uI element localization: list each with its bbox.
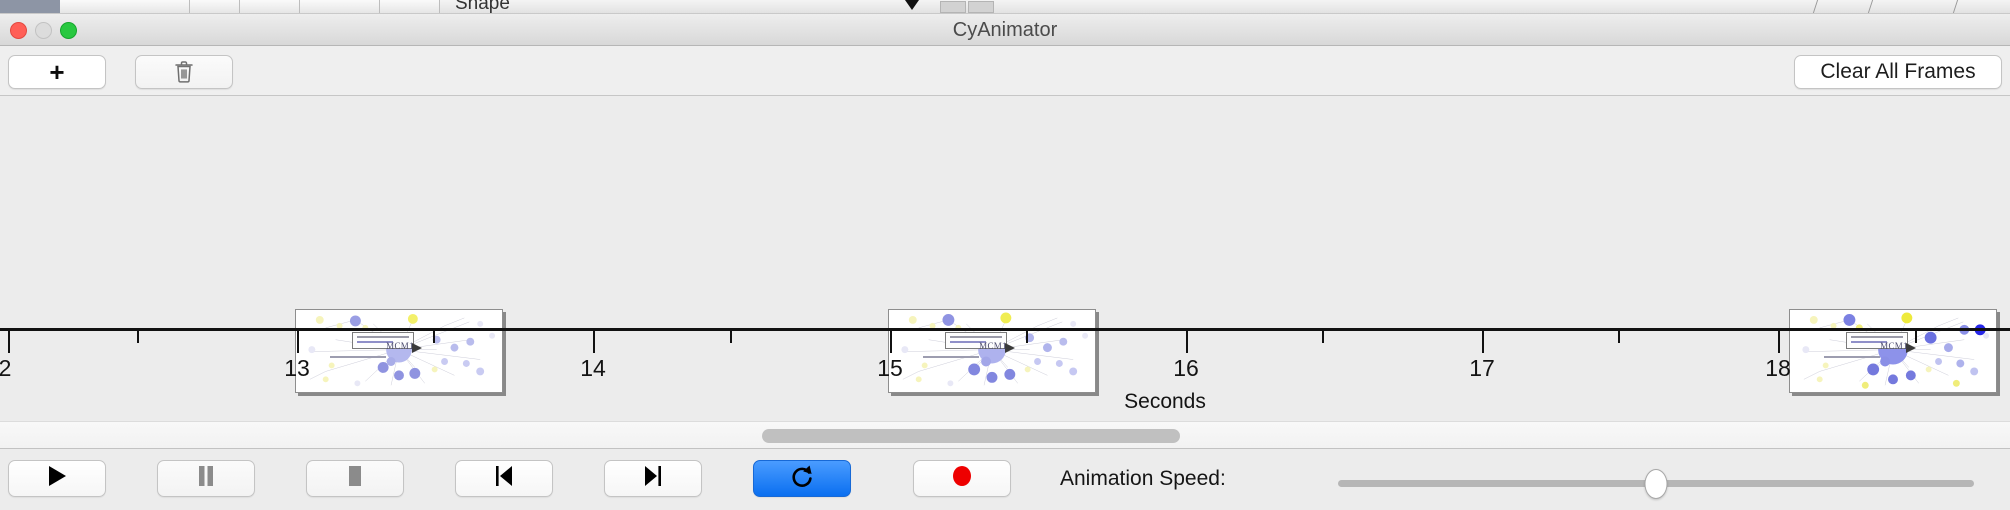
play-button[interactable] [8, 460, 106, 497]
background-window-label: Shape [455, 0, 510, 13]
timeline-panel[interactable]: MCM1 [0, 96, 2010, 421]
stop-icon [344, 464, 366, 493]
ruler-tick-minor [1026, 331, 1028, 343]
background-window-strip: Shape [0, 0, 2010, 13]
animation-speed-label: Animation Speed: [1060, 467, 1226, 491]
timeline-ruler[interactable]: 2 13 14 15 16 17 18 Seconds [0, 328, 2010, 421]
background-tab [300, 0, 380, 13]
ruler-tick-major [890, 331, 892, 353]
ruler-tick-minor [1618, 331, 1620, 343]
ruler-label: 18 [1765, 355, 1791, 382]
record-button[interactable] [913, 460, 1011, 497]
ruler-tick-major [1186, 331, 1188, 353]
ruler-tick-minor [137, 331, 139, 343]
clear-all-frames-button[interactable]: Clear All Frames [1794, 55, 2002, 89]
titlebar: CyAnimator [0, 14, 2010, 46]
scrollbar-thumb[interactable] [762, 429, 1180, 443]
ruler-label: 16 [1173, 355, 1199, 382]
skip-next-icon [642, 464, 664, 493]
ruler-label: 14 [580, 355, 606, 382]
timeline-scrollbar[interactable] [0, 421, 2010, 449]
background-tab [60, 0, 190, 13]
loop-button[interactable] [753, 460, 851, 497]
trash-icon [174, 60, 194, 84]
transport-bar: Animation Speed: [0, 449, 2010, 509]
toolbar: + Clear All Frames [0, 46, 2010, 96]
ruler-label: 17 [1469, 355, 1495, 382]
background-tab [190, 0, 240, 13]
ruler-label: 13 [284, 355, 310, 382]
plus-icon: + [49, 59, 64, 85]
pause-button[interactable] [157, 460, 255, 497]
ruler-tick-major [8, 331, 10, 353]
background-divider [1868, 0, 1873, 13]
animation-speed-slider-thumb[interactable] [1645, 469, 1668, 499]
ruler-axis-title: Seconds [1124, 390, 1206, 414]
background-divider [1953, 0, 1958, 13]
skip-previous-button[interactable] [455, 460, 553, 497]
pause-icon [195, 464, 217, 493]
background-sidebar [0, 0, 60, 13]
ruler-tick-minor [1322, 331, 1324, 343]
stop-button[interactable] [306, 460, 404, 497]
ruler-axis-line [0, 328, 2010, 331]
animation-speed-slider[interactable] [1338, 480, 1974, 487]
background-tab [380, 0, 440, 13]
ruler-label: 2 [0, 355, 11, 382]
loop-icon [790, 463, 814, 494]
ruler-tick-major [1482, 331, 1484, 353]
ruler-tick-minor [433, 331, 435, 343]
add-frame-button[interactable]: + [8, 55, 106, 89]
ruler-tick-minor [1915, 331, 1917, 343]
record-icon [950, 463, 974, 494]
cyanimator-window: CyAnimator + Clear All Frames [0, 13, 2010, 510]
skip-next-button[interactable] [604, 460, 702, 497]
delete-frame-button[interactable] [135, 55, 233, 89]
window-title: CyAnimator [0, 19, 2010, 42]
ruler-tick-minor [730, 331, 732, 343]
ruler-tick-major [593, 331, 595, 353]
play-icon [46, 464, 68, 493]
ruler-tick-major [297, 331, 299, 353]
skip-previous-icon [493, 464, 515, 493]
background-caret-icon [905, 0, 919, 10]
ruler-tick-major [1778, 331, 1780, 353]
background-box [940, 1, 966, 13]
background-divider [1813, 0, 1818, 13]
background-tab [240, 0, 300, 13]
background-box [968, 1, 994, 13]
ruler-label: 15 [877, 355, 903, 382]
